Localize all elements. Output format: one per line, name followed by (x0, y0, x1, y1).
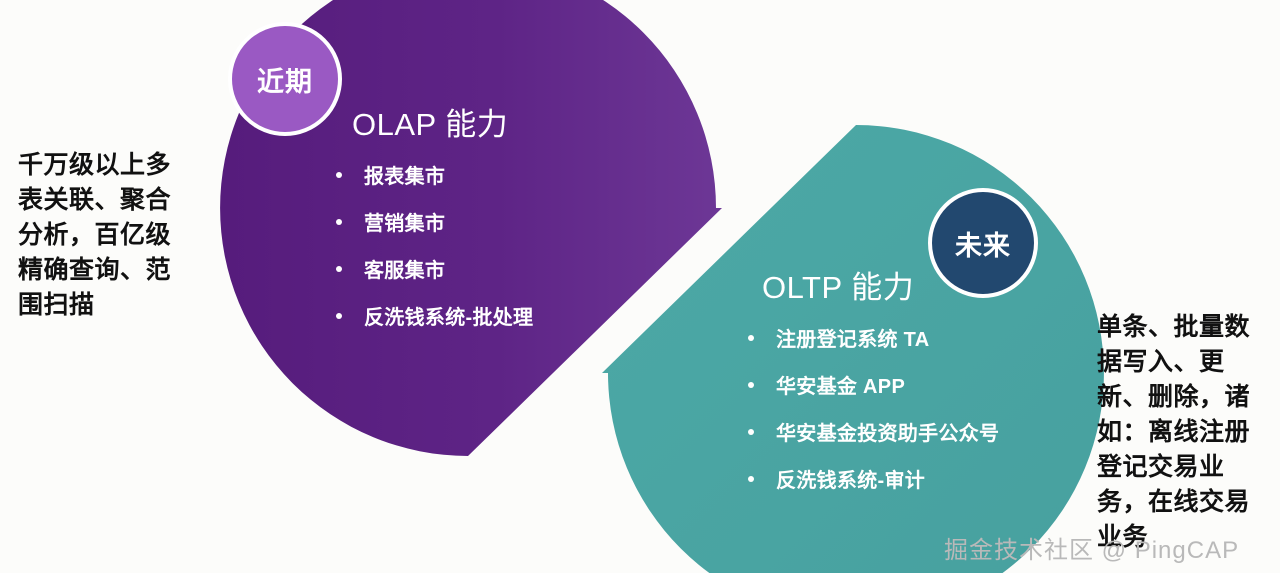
list-item: 反洗钱系统-审计 (748, 464, 999, 493)
bullet-dot-icon (336, 266, 342, 272)
oltp-description-text: 单条、批量数据写入、更新、删除，诸如：离线注册登记交易业务，在线交易业务 (1097, 310, 1269, 555)
bullet-dot-icon (748, 335, 754, 341)
list-item: 客服集市 (336, 254, 533, 283)
list-item: 营销集市 (336, 207, 533, 236)
oltp-card-title: OLTP 能力 (762, 262, 914, 307)
bullet-dot-icon (336, 219, 342, 225)
list-item-label: 报表集市 (364, 160, 445, 189)
bullet-dot-icon (336, 172, 342, 178)
list-item: 反洗钱系统-批处理 (336, 301, 533, 330)
oltp-item-list: 注册登记系统 TA 华安基金 APP 华安基金投资助手公众号 反洗钱系统-审计 (748, 323, 999, 511)
bullet-dot-icon (336, 313, 342, 319)
olap-card-title: OLAP 能力 (352, 99, 508, 144)
list-item-label: 营销集市 (364, 207, 445, 236)
diagram-canvas: 千万级以上多表关联、聚合分析，百亿级精确查询、范围扫描 单条、批量数据写入、更新… (0, 0, 1280, 573)
bullet-dot-icon (748, 476, 754, 482)
bullet-dot-icon (748, 429, 754, 435)
list-item-label: 注册登记系统 TA (776, 323, 929, 352)
list-item-label: 反洗钱系统-批处理 (364, 301, 533, 330)
badge-future: 未来 (928, 188, 1038, 298)
list-item: 注册登记系统 TA (748, 323, 999, 352)
list-item-label: 华安基金 APP (776, 370, 905, 399)
list-item-label: 反洗钱系统-审计 (776, 464, 925, 493)
bullet-dot-icon (748, 382, 754, 388)
list-item: 华安基金 APP (748, 370, 999, 399)
olap-item-list: 报表集市 营销集市 客服集市 反洗钱系统-批处理 (336, 160, 533, 348)
list-item-label: 华安基金投资助手公众号 (776, 417, 999, 446)
list-item: 报表集市 (336, 160, 533, 189)
list-item-label: 客服集市 (364, 254, 445, 283)
olap-description-text: 千万级以上多表关联、聚合分析，百亿级精确查询、范围扫描 (18, 148, 194, 323)
list-item: 华安基金投资助手公众号 (748, 417, 999, 446)
badge-near-term: 近期 (228, 22, 342, 136)
